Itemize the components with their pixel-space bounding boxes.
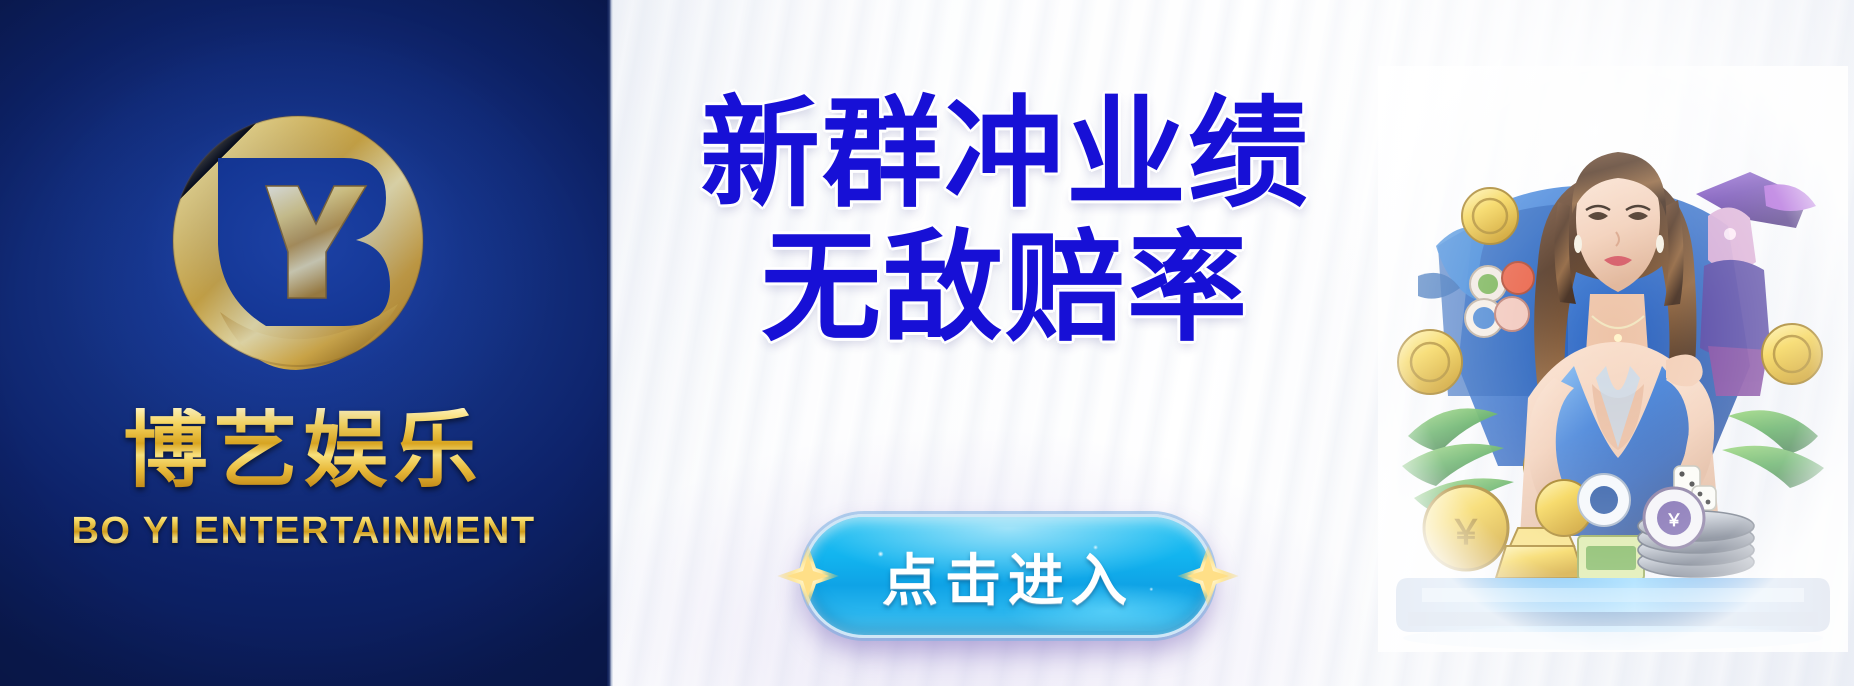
headline: 新群冲业绩 无敌赔率 (625, 88, 1385, 357)
sparkle-diamond-icon (1171, 539, 1245, 613)
headline-line-1: 新群冲业绩 (625, 88, 1385, 222)
headline-line-2: 无敌赔率 (625, 222, 1385, 356)
brand-name-cn: 博艺娱乐 (0, 408, 607, 492)
sparkle-diamond-icon (771, 539, 845, 613)
enter-button[interactable]: 点击进入 (802, 514, 1214, 638)
casino-hostess-collage: ￥ (1378, 66, 1848, 652)
promotional-banner: 博艺娱乐 BO YI ENTERTAINMENT 新群冲业绩 无敌赔率 (0, 0, 1854, 686)
cta-container: 点击进入 (613, 514, 1403, 638)
brand-panel: 博艺娱乐 BO YI ENTERTAINMENT (0, 0, 607, 686)
boyi-yb-monogram-icon (148, 98, 448, 398)
enter-button-label: 点击进入 (882, 536, 1134, 617)
promo-panel: 新群冲业绩 无敌赔率 (613, 0, 1854, 686)
brand-name-en: BO YI ENTERTAINMENT (0, 512, 607, 550)
